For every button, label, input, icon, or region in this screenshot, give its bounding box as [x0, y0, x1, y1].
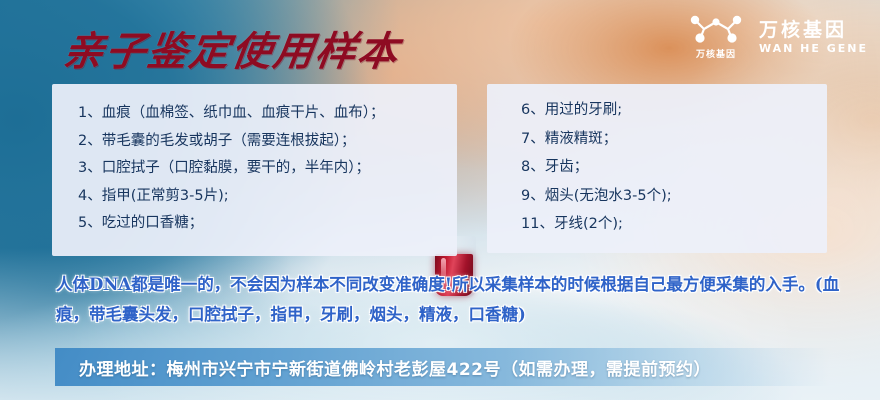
- list-item: 1、血痕（血棉签、纸巾血、血痕干片、血布）；: [78, 106, 457, 121]
- logo-wordmark: 万核基因 WAN HE GENE: [759, 21, 868, 54]
- dna-uniqueness-note: 人体DNA都是唯一的，不会因为样本不同改变准确度!所以采集样本的时候根据自己最方…: [56, 270, 846, 330]
- list-item: 5、吃过的口香糖；: [78, 216, 457, 231]
- brand-name-cn: 万核基因: [759, 21, 868, 40]
- list-item: 9、烟头(无泡水3-5个);: [521, 189, 827, 204]
- sample-list-panel-right: 6、用过的牙刷; 7、精液精斑； 8、牙齿； 9、烟头(无泡水3-5个); 11…: [487, 84, 827, 253]
- brand-logo: 万核基因 万核基因 WAN HE GENE: [687, 14, 868, 60]
- address-text: 办理地址：梅州市兴宁市宁新街道佛岭村老彭屋422号（如需办理，需提前预约）: [79, 355, 711, 380]
- brand-name-en: WAN HE GENE: [759, 43, 868, 54]
- list-item: 7、精液精斑；: [521, 132, 827, 147]
- sample-list-right: 6、用过的牙刷; 7、精液精斑； 8、牙齿； 9、烟头(无泡水3-5个); 11…: [487, 84, 827, 232]
- list-item: 8、牙齿；: [521, 160, 827, 175]
- list-item: 6、用过的牙刷;: [521, 103, 827, 118]
- logo-mark-label: 万核基因: [696, 47, 736, 60]
- logo-mark: 万核基因: [687, 14, 745, 60]
- list-item: 2、带毛囊的毛发或胡子（需要连根拔起）；: [78, 134, 457, 149]
- page-title: 亲子鉴定使用样本: [60, 19, 404, 77]
- sample-list-panel-left: 1、血痕（血棉签、纸巾血、血痕干片、血布）； 2、带毛囊的毛发或胡子（需要连根拔…: [52, 84, 457, 256]
- molecule-icon: [687, 14, 745, 44]
- address-banner: 办理地址：梅州市兴宁市宁新街道佛岭村老彭屋422号（如需办理，需提前预约）: [55, 348, 830, 386]
- poster-canvas: 亲子鉴定使用样本: [0, 0, 880, 400]
- list-item: 4、指甲(正常剪3-5片);: [78, 189, 457, 204]
- list-item: 3、口腔拭子（口腔黏膜，要干的，半年内）；: [78, 161, 457, 176]
- sample-list-left: 1、血痕（血棉签、纸巾血、血痕干片、血布）； 2、带毛囊的毛发或胡子（需要连根拔…: [52, 84, 457, 231]
- list-item: 11、牙线(2个);: [521, 217, 827, 232]
